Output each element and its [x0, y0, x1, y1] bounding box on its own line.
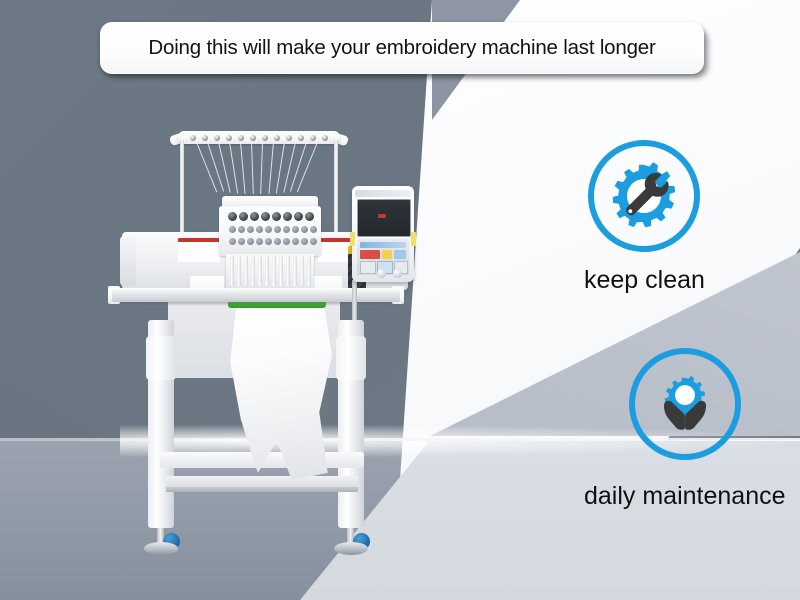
- feature-keep-clean: keep clean: [584, 140, 705, 295]
- arm-end-cap-left: [120, 236, 136, 286]
- warning-label-left: [178, 238, 220, 262]
- panel-dial-right[interactable]: [393, 269, 402, 278]
- feature-icon-ring: [588, 140, 700, 252]
- control-panel-screen[interactable]: [357, 199, 411, 237]
- tension-knob-row-1: [228, 212, 314, 221]
- headline-text: Doing this will make your embroidery mac…: [148, 36, 655, 60]
- panel-dial-left[interactable]: [377, 269, 386, 278]
- screen-design-preview: [378, 214, 386, 218]
- feature-label: daily maintenance: [584, 482, 786, 511]
- marketing-banner: Doing this will make your embroidery mac…: [0, 0, 800, 600]
- tension-knob-row-3: [229, 238, 317, 245]
- feature-icon-ring: [629, 348, 741, 460]
- feature-daily-maintenance: daily maintenance: [584, 348, 786, 511]
- tension-knob-row-2: [229, 226, 317, 233]
- panel-tab-right: [411, 232, 416, 246]
- panel-tab-left: [350, 232, 355, 246]
- control-panel-arm: [352, 280, 357, 320]
- stand-shelf-edge: [166, 487, 358, 492]
- headline-banner: Doing this will make your embroidery mac…: [100, 22, 704, 74]
- feature-label: keep clean: [584, 266, 705, 295]
- leg-knuckle-right: [336, 336, 366, 380]
- gear-in-hands-icon: [648, 367, 722, 441]
- leg-knuckle-left: [146, 336, 176, 380]
- control-panel-top-strip: [355, 190, 411, 197]
- gear-wrench-icon: [607, 159, 681, 233]
